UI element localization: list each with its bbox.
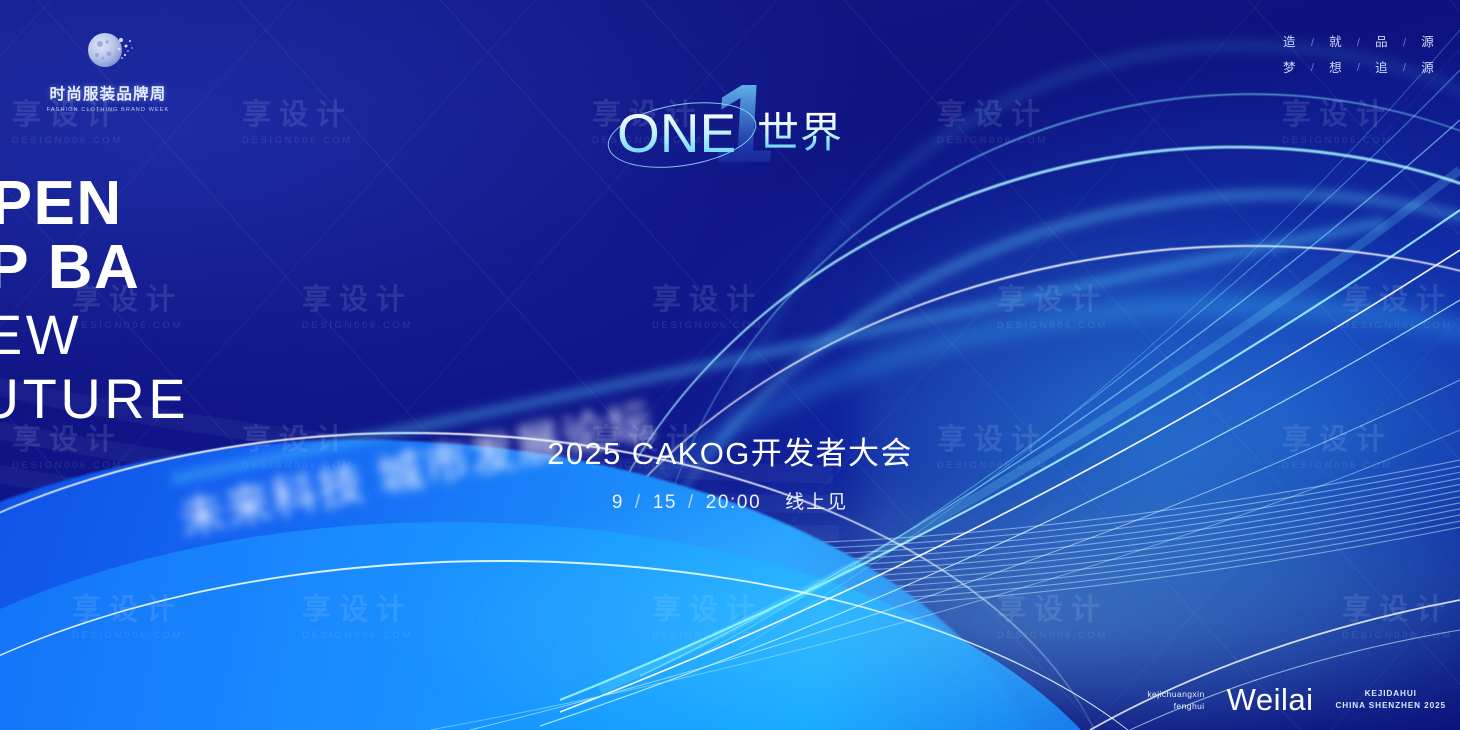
headline-en-line2: NEW FUTURE xyxy=(0,303,189,432)
sponsor-left: kejichuangxin fenghui xyxy=(1147,688,1204,713)
headline-chinese: 开启·新的未来 未来科技 城市发展论坛 xyxy=(223,0,1460,730)
date-separator-1: / xyxy=(635,492,642,513)
event-month: 9 xyxy=(612,492,624,513)
event-datetime: 9 / 15 / 20:00 线上见 xyxy=(0,487,1460,514)
sponsor-center: Weilai xyxy=(1227,682,1314,718)
sponsor-lockup: kejichuangxin fenghui Weilai KEJIDAHUI C… xyxy=(1147,682,1446,718)
sponsor-right-line1: KEJIDAHUI xyxy=(1335,688,1446,700)
headline-en-line1: OPEN UP BA xyxy=(0,172,189,298)
headline-block: OPEN UP BA NEW FUTURE 开启·新的未来 未来科技 城市发展论… xyxy=(0,222,1460,382)
sponsor-right: KEJIDAHUI CHINA SHENZHEN 2025 xyxy=(1335,688,1446,713)
event-name: 2025 CAKOG开发者大会 xyxy=(0,428,1460,473)
event-day: 15 xyxy=(653,492,677,513)
poster-content: 时尚服装品牌周 FASHION CLOTHING BRAND WEEK 造/就/… xyxy=(0,0,1460,730)
event-time: 20:00 xyxy=(706,492,762,513)
sponsor-right-line2: CHINA SHENZHEN 2025 xyxy=(1335,700,1446,712)
event-online-label: 线上见 xyxy=(785,492,848,513)
headline-english: OPEN UP BA NEW FUTURE xyxy=(0,172,223,431)
date-separator-2: / xyxy=(688,492,695,513)
sponsor-left-line1: kejichuangxin xyxy=(1147,688,1204,700)
subtitle-block: 2025 CAKOG开发者大会 9 / 15 / 20:00 线上见 xyxy=(0,428,1460,514)
poster-canvas: 享设计DESIGN006.COM享设计DESIGN006.COM享设计DESIG… xyxy=(0,0,1460,730)
sponsor-left-line2: fenghui xyxy=(1147,700,1204,712)
moon-icon xyxy=(81,24,135,78)
